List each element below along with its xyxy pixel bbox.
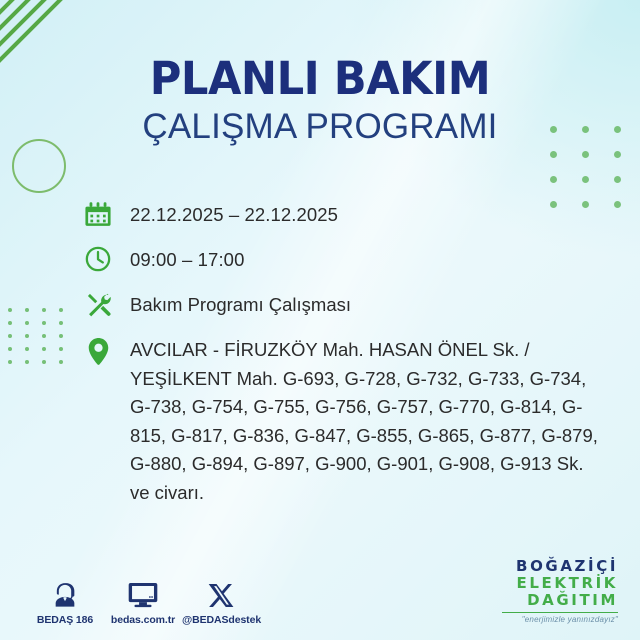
circle-outline-decoration [12,139,66,193]
monitor-icon [104,577,182,609]
date-range-value: 22.12.2025 – 22.12.2025 [130,200,338,229]
logo-line-bogazici: BOĞAZİÇİ [502,558,618,575]
logo-divider [502,612,618,614]
location-pin-icon [84,337,112,365]
planned-maintenance-poster: PLANLI BAKIM ÇALIŞMA PROGRAMI 22 [0,0,640,640]
contact-x-label: @BEDASdestek [182,614,260,626]
info-row-date: 22.12.2025 – 22.12.2025 [84,200,616,229]
headset-icon [26,577,104,609]
info-row-time: 09:00 – 17:00 [84,245,616,274]
time-range-value: 09:00 – 17:00 [130,245,244,274]
contact-phone[interactable]: BEDAŞ 186 [26,577,104,626]
x-twitter-icon [182,577,260,609]
work-type-value: Bakım Programı Çalışması [130,290,351,319]
tools-icon [84,290,112,318]
contact-phone-label: BEDAŞ 186 [26,614,104,626]
contact-website-label: bedas.com.tr [104,614,182,626]
info-list: 22.12.2025 – 22.12.2025 09:00 – 17:00 [84,200,616,507]
logo-line-dagitim: DAĞITIM [502,592,618,609]
logo-line-elektrik: ELEKTRİK [502,575,618,592]
page-subtitle: ÇALIŞMA PROGRAMI [0,108,640,146]
poster-header: PLANLI BAKIM ÇALIŞMA PROGRAMI [0,56,640,146]
logo-tagline: "enerjimizle yanınızdayız" [502,615,618,624]
calendar-icon [84,200,112,228]
info-row-work-type: Bakım Programı Çalışması [84,290,616,319]
dot-grid-left-decoration [8,308,76,373]
clock-icon [84,245,112,273]
contact-list: BEDAŞ 186 bedas.com.tr [26,577,260,626]
bedas-logo: BOĞAZİÇİ ELEKTRİK DAĞITIM "enerjimizle y… [502,558,618,625]
address-value: AVCILAR - FİRUZKÖY Mah. HASAN ÖNEL Sk. /… [130,335,598,507]
info-row-address: AVCILAR - FİRUZKÖY Mah. HASAN ÖNEL Sk. /… [84,335,616,507]
contact-x-account[interactable]: @BEDASdestek [182,577,260,626]
poster-footer: BEDAŞ 186 bedas.com.tr [0,554,640,640]
page-title: PLANLI BAKIM [13,56,627,102]
contact-website[interactable]: bedas.com.tr [104,577,182,626]
